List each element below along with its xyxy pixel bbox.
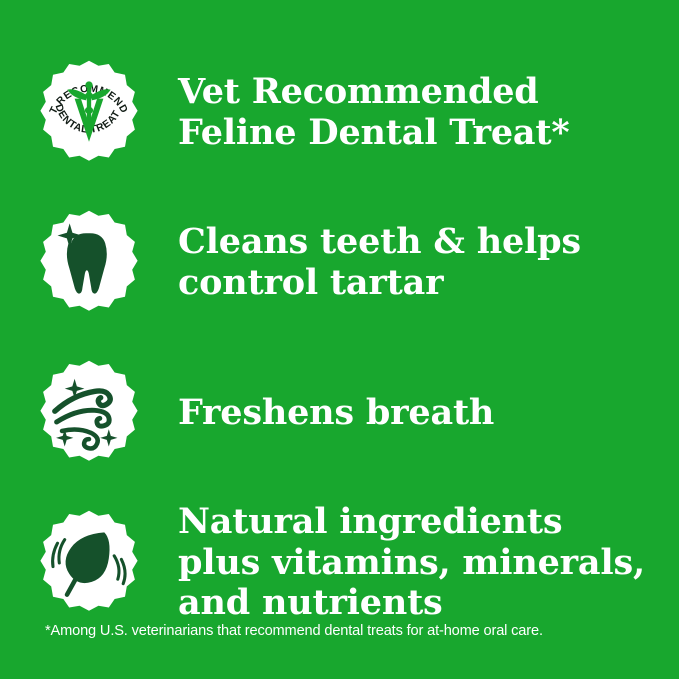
feature-icon-cell bbox=[0, 509, 178, 617]
natural-leaf-icon bbox=[35, 509, 143, 617]
feature-text-cell: Cleans teeth & helps control tartar bbox=[178, 222, 679, 304]
feature-icon-cell bbox=[0, 359, 178, 467]
sparkling-tooth-icon bbox=[35, 209, 143, 317]
feature-icon-cell bbox=[0, 209, 178, 317]
feature-row: Natural ingredients plus vitamins, miner… bbox=[0, 488, 679, 638]
feature-list: VET RECOMMENDED DENTAL TREATS bbox=[0, 38, 679, 638]
feature-row: VET RECOMMENDED DENTAL TREATS bbox=[0, 38, 679, 188]
feature-text: Freshens breath bbox=[178, 393, 655, 434]
feature-text-cell: Vet Recommended Feline Dental Treat* bbox=[178, 72, 679, 154]
vet-recommended-seal-icon: VET RECOMMENDED DENTAL TREATS bbox=[35, 59, 143, 167]
feature-text-cell: Natural ingredients plus vitamins, miner… bbox=[178, 502, 679, 625]
feature-text: Cleans teeth & helps control tartar bbox=[178, 222, 655, 304]
feature-text-cell: Freshens breath bbox=[178, 393, 679, 434]
feature-row: Cleans teeth & helps control tartar bbox=[0, 188, 679, 338]
fresh-breath-swirl-icon bbox=[35, 359, 143, 467]
feature-text: Natural ingredients plus vitamins, miner… bbox=[178, 502, 655, 625]
product-benefits-panel: VET RECOMMENDED DENTAL TREATS bbox=[0, 0, 679, 679]
feature-row: Freshens breath bbox=[0, 338, 679, 488]
feature-icon-cell: VET RECOMMENDED DENTAL TREATS bbox=[0, 59, 178, 167]
feature-text: Vet Recommended Feline Dental Treat* bbox=[178, 72, 655, 154]
footnote-disclaimer: *Among U.S. veterinarians that recommend… bbox=[45, 622, 645, 641]
